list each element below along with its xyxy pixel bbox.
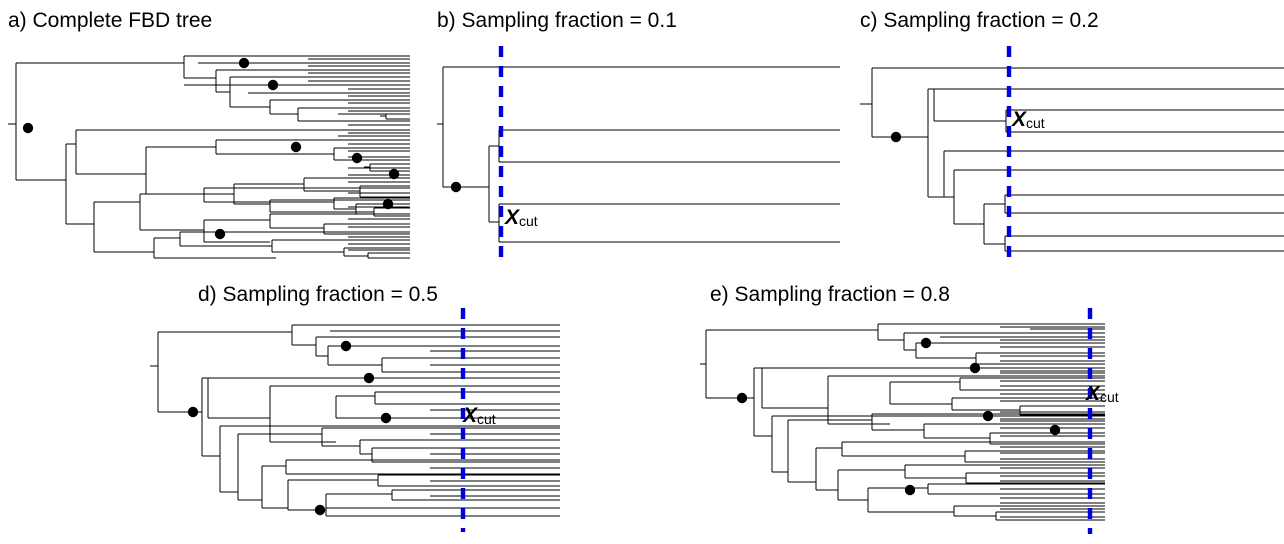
xcut-label-d: Xcut (463, 406, 496, 427)
panel-a: a) Complete FBD tree (0, 0, 430, 272)
xcut-symbol: X (1086, 382, 1100, 405)
xcut-label-c: Xcut (1012, 110, 1045, 131)
figure-canvas: a) Complete FBD tree (0, 0, 1284, 544)
panel-d: d) Sampling fraction = 0.5 (140, 276, 580, 544)
panel-b: b) Sampling fraction = 0.1 (430, 0, 850, 272)
tree-svg-e (700, 320, 1105, 520)
panel-c-title: c) Sampling fraction = 0.2 (860, 8, 1099, 34)
panel-c-tree: Xcut (860, 52, 1284, 258)
panel-d-tree: Xcut (150, 320, 560, 520)
xcut-symbol: X (505, 206, 519, 229)
tree-svg-c (860, 52, 1284, 258)
fossil-dots-c (891, 132, 901, 142)
xcut-subscript: cut (1100, 389, 1119, 405)
xcut-subscript: cut (477, 411, 496, 427)
panel-c: c) Sampling fraction = 0.2 (850, 0, 1284, 272)
xcut-symbol: X (1012, 108, 1026, 131)
xcut-symbol: X (463, 404, 477, 427)
panel-e-title: e) Sampling fraction = 0.8 (710, 282, 950, 308)
tree-svg-b (437, 52, 840, 258)
xcut-subscript: cut (1026, 115, 1045, 131)
panel-b-title: b) Sampling fraction = 0.1 (437, 8, 677, 34)
xcut-subscript: cut (519, 213, 538, 229)
xcut-label-e: Xcut (1086, 384, 1119, 405)
panel-a-tree (8, 52, 410, 258)
panel-e-tree: Xcut (700, 320, 1105, 520)
panel-d-title: d) Sampling fraction = 0.5 (198, 282, 438, 308)
tree-svg-d (150, 320, 560, 520)
tree-svg-a (8, 52, 410, 258)
fossil-dots-b (451, 182, 461, 192)
panel-e: e) Sampling fraction = 0.8 (640, 276, 1100, 544)
panel-b-tree: Xcut (437, 52, 840, 258)
panel-a-title: a) Complete FBD tree (8, 8, 212, 34)
xcut-label-b: Xcut (505, 208, 538, 229)
